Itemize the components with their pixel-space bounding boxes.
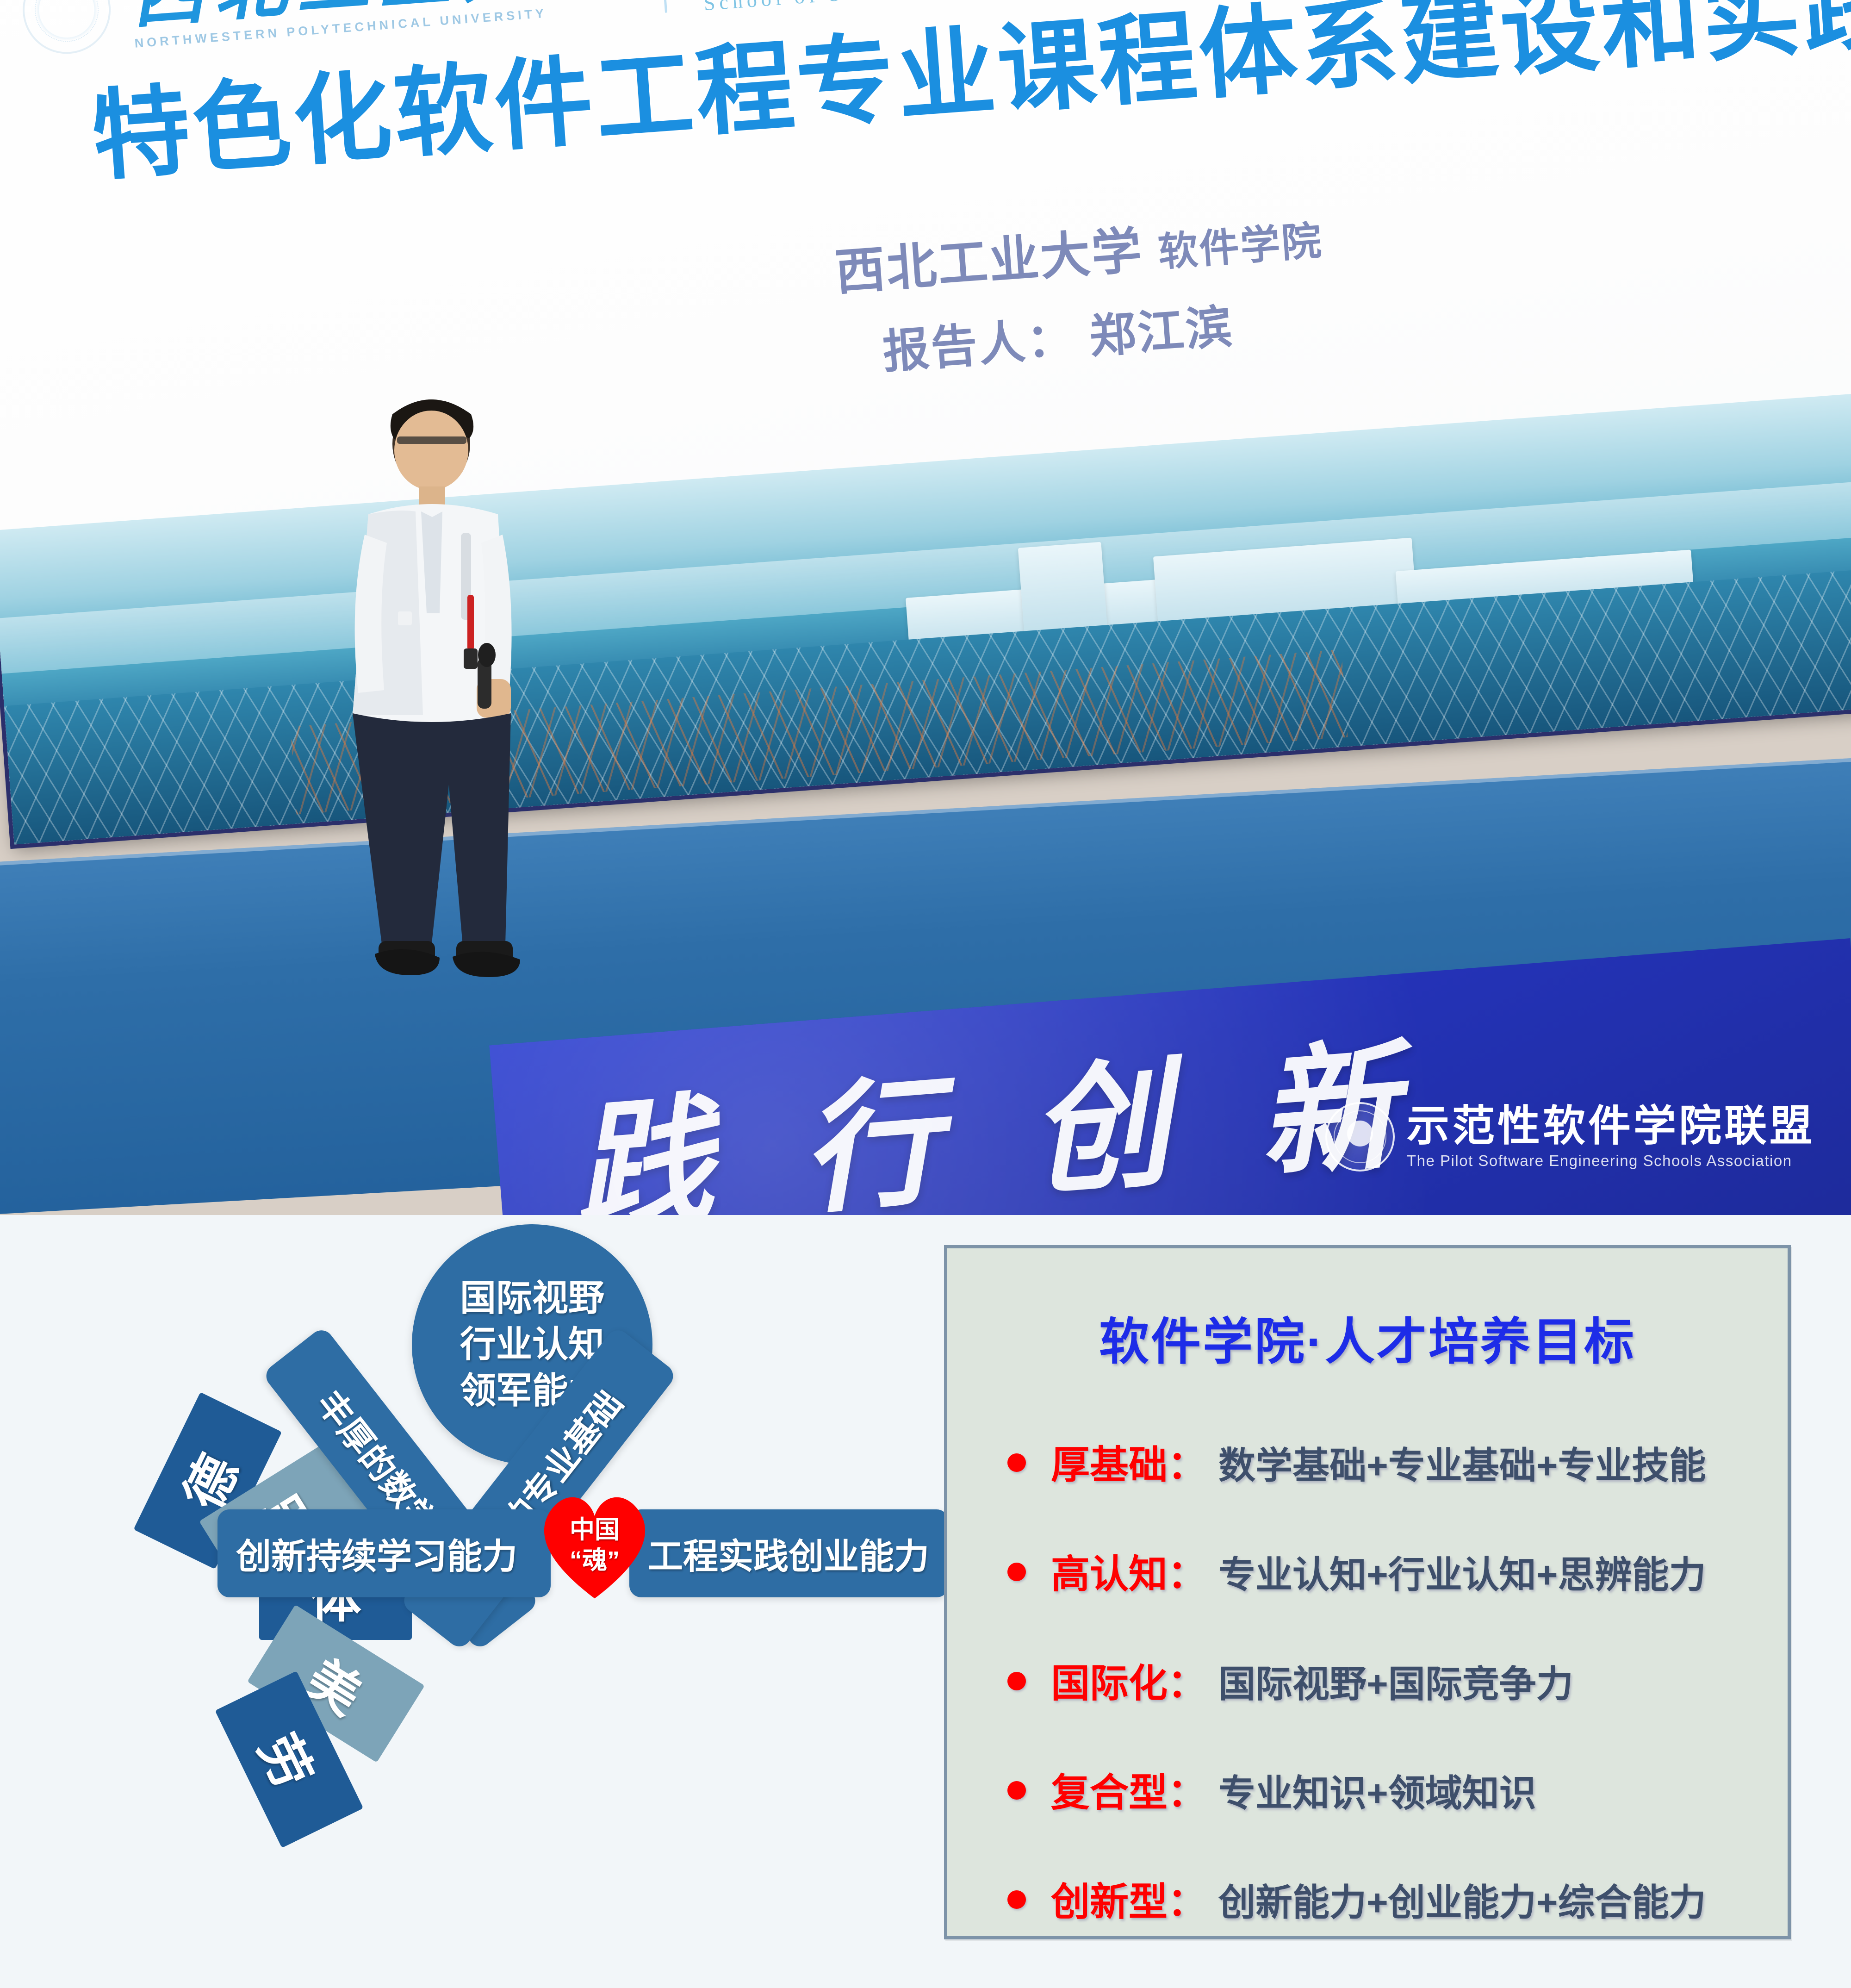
goal-key: 高认知： — [1051, 1543, 1206, 1599]
goal-key: 国际化： — [1051, 1652, 1206, 1708]
alliance-seal-icon — [1325, 1102, 1395, 1172]
goal-item: 厚基础： 数学基础+专业基础+专业技能 — [1007, 1434, 1788, 1490]
goal-item: 国际化： 国际视野+国际竞争力 — [1007, 1652, 1788, 1708]
bar-innovation-learning: 创新持续学习能力 — [217, 1509, 551, 1597]
goal-value: 国际视野+国际竞争力 — [1218, 1654, 1573, 1708]
presenter-org-sub: 软件学院 — [1156, 218, 1324, 275]
alliance-logo: 示范性软件学院联盟 The Pilot Software Engineering… — [1325, 1102, 1815, 1172]
projection-screen: 西北工业大学 NORTHWESTERN POLYTECHNICAL UNIVER… — [0, 0, 1851, 844]
heart-label-line-2: “魂” — [532, 1546, 657, 1576]
conference-photo: 西北工业大学 NORTHWESTERN POLYTECHNICAL UNIVER… — [0, 0, 1851, 1215]
goal-panel-title: 软件学院·人才培养目标 — [947, 1302, 1788, 1374]
ppt-slide-talent-goals: 德 智 体 美 劳 国际视野 行业认知 领军能力 丰厚的数学基础 坚实的专业基础… — [0, 1215, 1851, 1988]
school-name-en: School of Software — [703, 0, 1029, 15]
goal-value: 专业认知+行业认知+思辨能力 — [1218, 1545, 1706, 1599]
bullet-dot-icon — [1007, 1890, 1026, 1909]
speaker-figure — [324, 396, 541, 1002]
bullet-dot-icon — [1007, 1453, 1026, 1472]
heart-label-line-1: 中国 — [532, 1515, 657, 1546]
bullet-dot-icon — [1007, 1781, 1026, 1800]
goal-value: 专业知识+领域知识 — [1218, 1764, 1536, 1817]
school-name-block: 软 件 学 院 School of Software — [697, 0, 1029, 15]
goal-item: 创新型： 创新能力+创业能力+综合能力 — [1007, 1871, 1788, 1927]
core-circle-line-2: 行业认知 — [460, 1321, 604, 1368]
university-name-block: 西北工业大学 NORTHWESTERN POLYTECHNICAL UNIVER… — [129, 0, 628, 51]
goal-key: 创新型： — [1051, 1871, 1206, 1927]
heart-label: 中国 “魂” — [532, 1515, 657, 1576]
talent-goal-panel: 软件学院·人才培养目标 厚基础： 数学基础+专业基础+专业技能 高认知： 专业认… — [944, 1245, 1791, 1939]
presenter-org-main: 西北工业大学 — [833, 222, 1145, 300]
university-seal-icon — [19, 0, 113, 57]
goal-value: 创新能力+创业能力+综合能力 — [1218, 1873, 1706, 1926]
bullet-dot-icon — [1007, 1672, 1026, 1690]
core-circle-line-1: 国际视野 — [460, 1275, 604, 1321]
goal-value: 数学基础+专业基础+专业技能 — [1218, 1436, 1706, 1489]
goal-key: 复合型： — [1051, 1762, 1206, 1818]
bullet-dot-icon — [1007, 1563, 1026, 1581]
alliance-name-cn: 示范性软件学院联盟 — [1407, 1104, 1815, 1149]
bar-engineering-practice: 工程实践创业能力 — [629, 1509, 949, 1597]
goal-item: 复合型： 专业知识+领域知识 — [1007, 1762, 1788, 1818]
goal-list: 厚基础： 数学基础+专业基础+专业技能 高认知： 专业认知+行业认知+思辨能力 … — [1007, 1434, 1788, 1927]
goal-key: 厚基础： — [1051, 1434, 1206, 1490]
goal-item: 高认知： 专业认知+行业认知+思辨能力 — [1007, 1543, 1788, 1599]
presenter-info: 西北工业大学 软件学院 报告人： 郑江滨 — [832, 179, 1628, 384]
alliance-name-en: The Pilot Software Engineering Schools A… — [1407, 1152, 1815, 1170]
brand-divider — [658, 0, 667, 13]
